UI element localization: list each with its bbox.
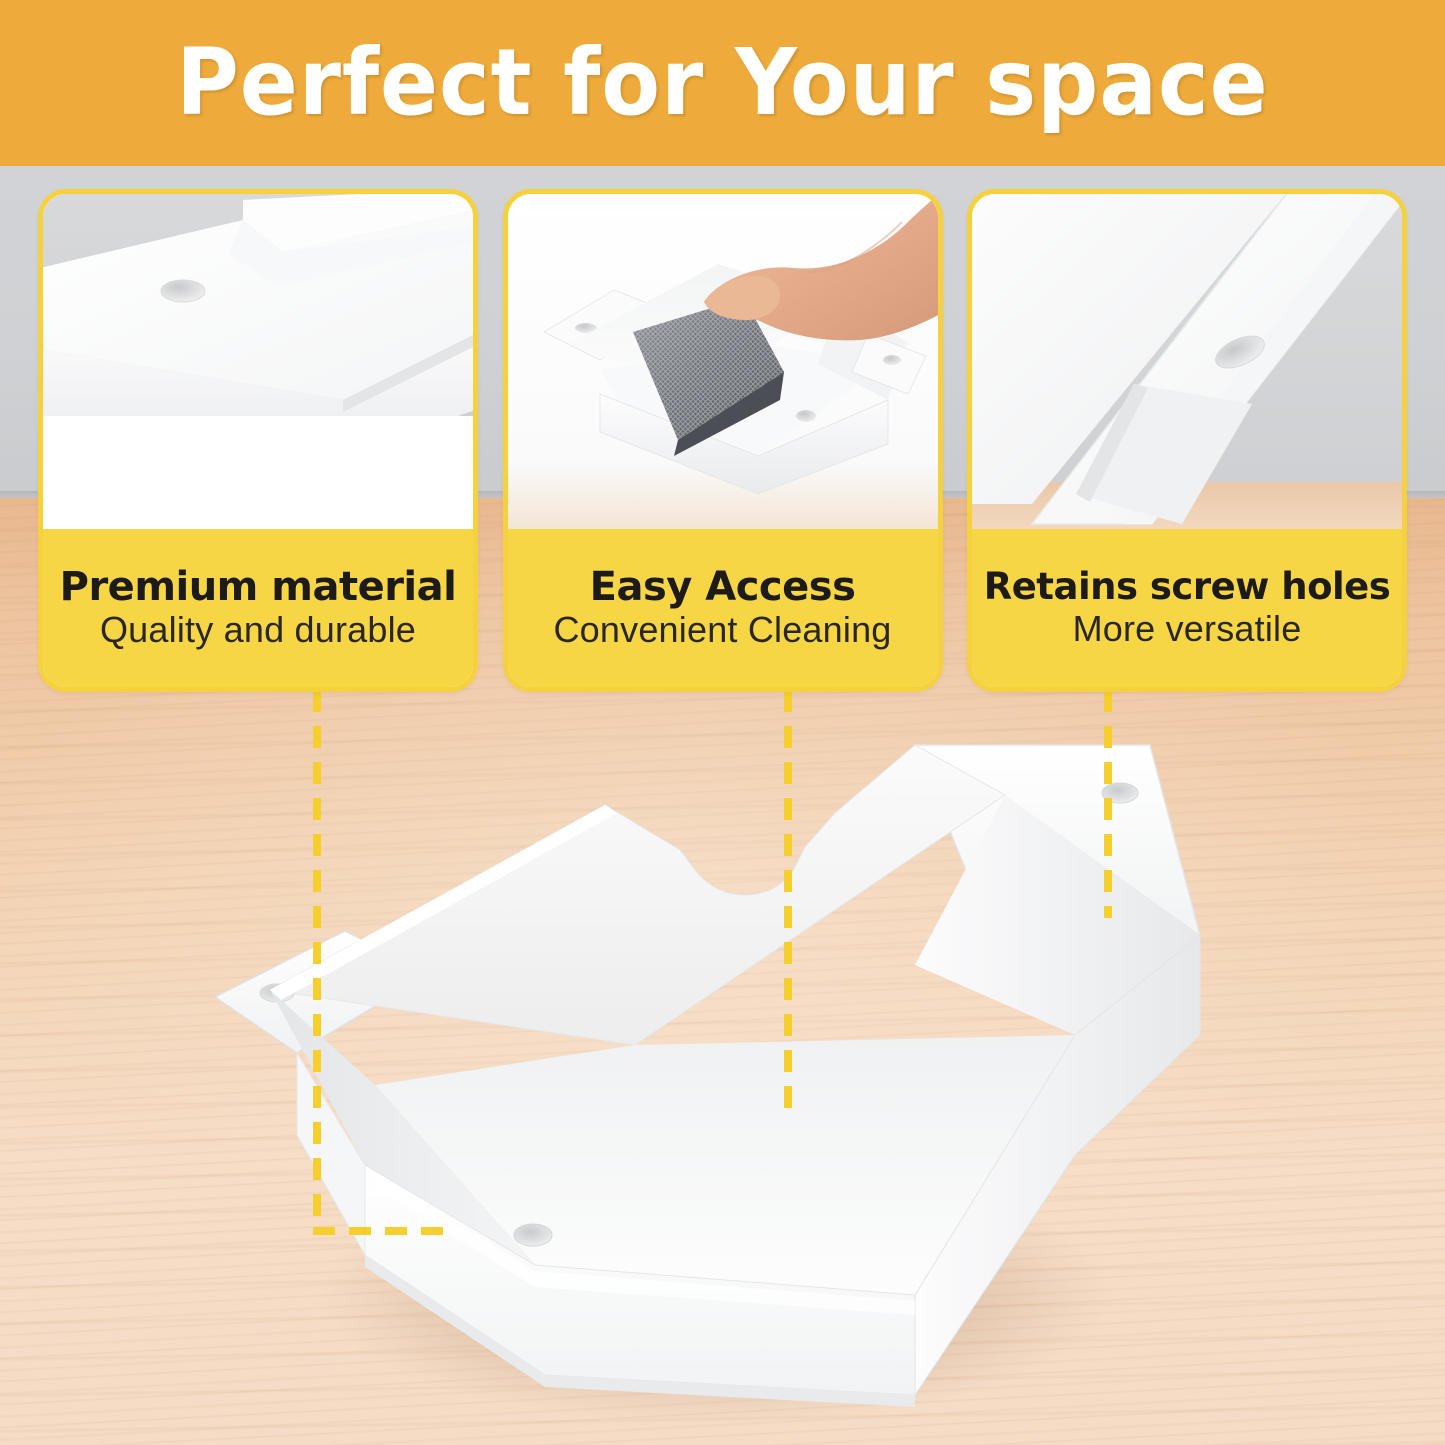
card-photo-retains-screw-holes <box>972 194 1402 539</box>
card-photo-easy-access <box>508 194 938 539</box>
card-title-easy-access: Easy Access <box>590 566 856 608</box>
screw-hole-front <box>514 1224 552 1246</box>
page-title: Perfect for Your space <box>0 37 1445 129</box>
card1-screw-hole <box>161 280 205 302</box>
card-subtitle-easy-access: Convenient Cleaning <box>553 610 891 650</box>
card-caption-easy-access: Easy Access Convenient Cleaning <box>508 529 938 687</box>
connector-screw-holes-vertical <box>1104 690 1112 918</box>
card1-white-lower <box>43 416 473 539</box>
connector-premium-horizontal <box>313 1227 448 1235</box>
feature-card-row: Premium material Quality and durable <box>38 189 1407 692</box>
feature-card-premium-material[interactable]: Premium material Quality and durable <box>38 189 478 692</box>
feature-card-easy-access[interactable]: Easy Access Convenient Cleaning <box>503 189 943 692</box>
card-photo-premium-material <box>43 194 473 539</box>
header-banner: Perfect for Your space <box>0 0 1445 166</box>
page-title-text: Perfect for Your space <box>176 37 1268 129</box>
connector-premium-vertical <box>313 690 321 1235</box>
card2-screw-hole-right <box>883 355 901 365</box>
hero-product-svg <box>215 735 1215 1425</box>
card-title-premium-material: Premium material <box>60 566 457 608</box>
card-subtitle-premium-material: Quality and durable <box>100 610 416 650</box>
retains-screw-holes-illustration <box>972 194 1402 539</box>
connector-easy-access-vertical <box>784 690 792 1122</box>
tray-back-wall <box>270 745 1005 1045</box>
card-caption-retains-screw-holes: Retains screw holes More versatile <box>972 529 1402 687</box>
card-caption-premium-material: Premium material Quality and durable <box>43 529 473 687</box>
card2-screw-hole-front <box>796 410 816 422</box>
easy-access-illustration <box>508 194 938 539</box>
premium-material-illustration <box>43 194 473 539</box>
infographic-page: Perfect for Your space <box>0 0 1445 1445</box>
card-subtitle-retains-screw-holes: More versatile <box>1073 609 1302 649</box>
card-title-retains-screw-holes: Retains screw holes <box>984 568 1391 607</box>
feature-card-retains-screw-holes[interactable]: Retains screw holes More versatile <box>967 189 1407 692</box>
hero-product-image <box>215 735 1215 1425</box>
